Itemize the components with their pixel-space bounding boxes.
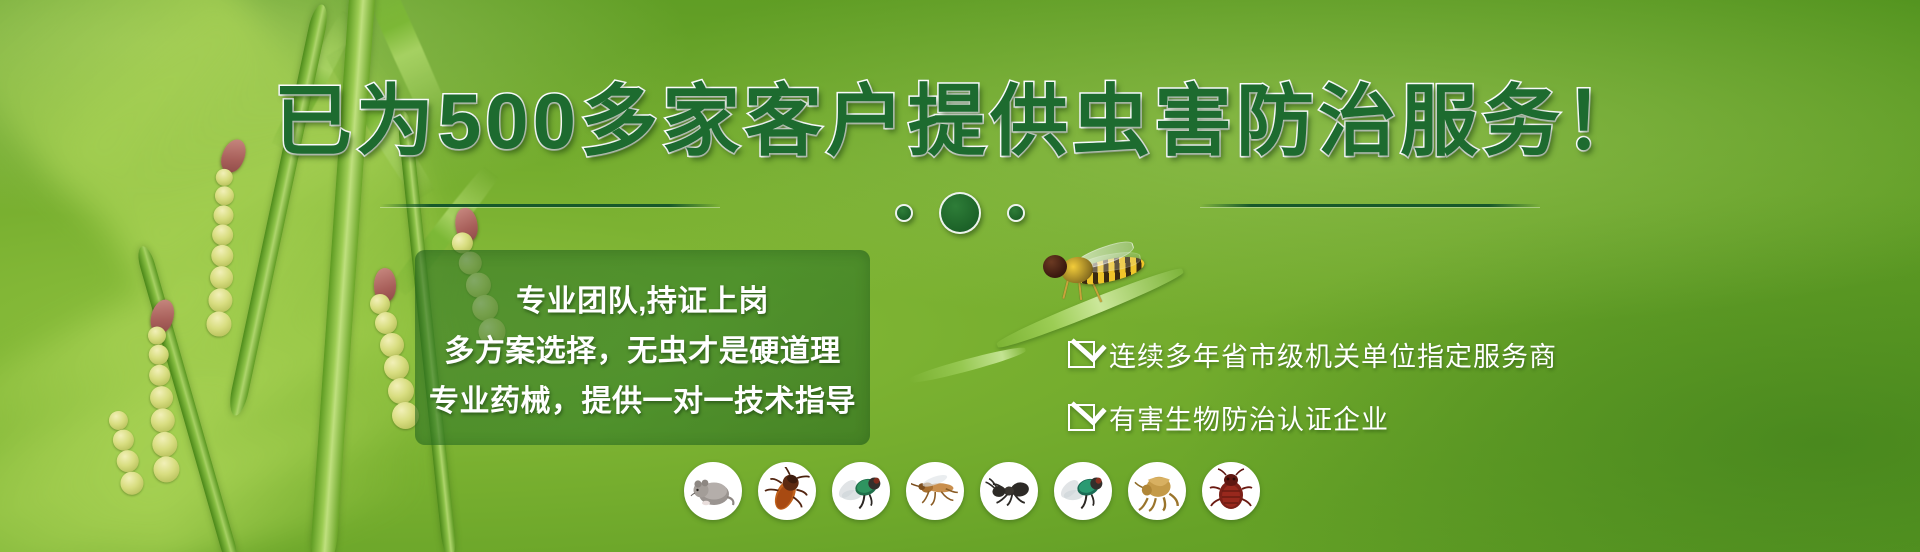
rodent-icon[interactable] <box>684 462 742 520</box>
flea-icon[interactable] <box>1128 462 1186 520</box>
ant-icon[interactable] <box>980 462 1038 520</box>
headline: 已为500多家客户提供虫害防治服务！ <box>0 82 1920 160</box>
bedbug-icon[interactable] <box>1202 462 1260 520</box>
checkbox-checked-icon <box>1068 404 1095 431</box>
housefly-icon[interactable] <box>832 462 890 520</box>
checklist-item-label: 连续多年省市级机关单位指定服务商 <box>1109 335 1557 374</box>
checkbox-checked-icon <box>1068 341 1095 368</box>
cockroach-icon[interactable] <box>758 462 816 520</box>
mosquito-icon[interactable] <box>906 462 964 520</box>
pest-control-hero-banner: 已为500多家客户提供虫害防治服务！ 专业团队,持证上岗 多方案选择，无虫才是硬… <box>0 0 1920 552</box>
small-dot <box>1007 204 1025 222</box>
checklist-item: 连续多年省市级机关单位指定服务商 <box>1068 335 1557 374</box>
selling-point-3: 专业药械，提供一对一技术指导 <box>429 376 856 420</box>
greenbottle-fly-icon[interactable] <box>1054 462 1112 520</box>
decorative-dots <box>0 192 1920 234</box>
large-dot <box>939 192 981 234</box>
checklist-item: 有害生物防治认证企业 <box>1068 398 1557 437</box>
credentials-checklist: 连续多年省市级机关单位指定服务商 有害生物防治认证企业 <box>1068 335 1557 437</box>
selling-point-2: 多方案选择，无虫才是硬道理 <box>444 326 841 370</box>
pest-icon-strip <box>684 462 1260 520</box>
selling-points-panel: 专业团队,持证上岗 多方案选择，无虫才是硬道理 专业药械，提供一对一技术指导 <box>415 250 870 445</box>
checklist-item-label: 有害生物防治认证企业 <box>1109 398 1389 437</box>
hoverfly-icon <box>1035 245 1155 305</box>
small-dot <box>895 204 913 222</box>
selling-point-1: 专业团队,持证上岗 <box>516 276 769 320</box>
headline-text: 已为500多家客户提供虫害防治服务！ <box>274 77 1646 165</box>
